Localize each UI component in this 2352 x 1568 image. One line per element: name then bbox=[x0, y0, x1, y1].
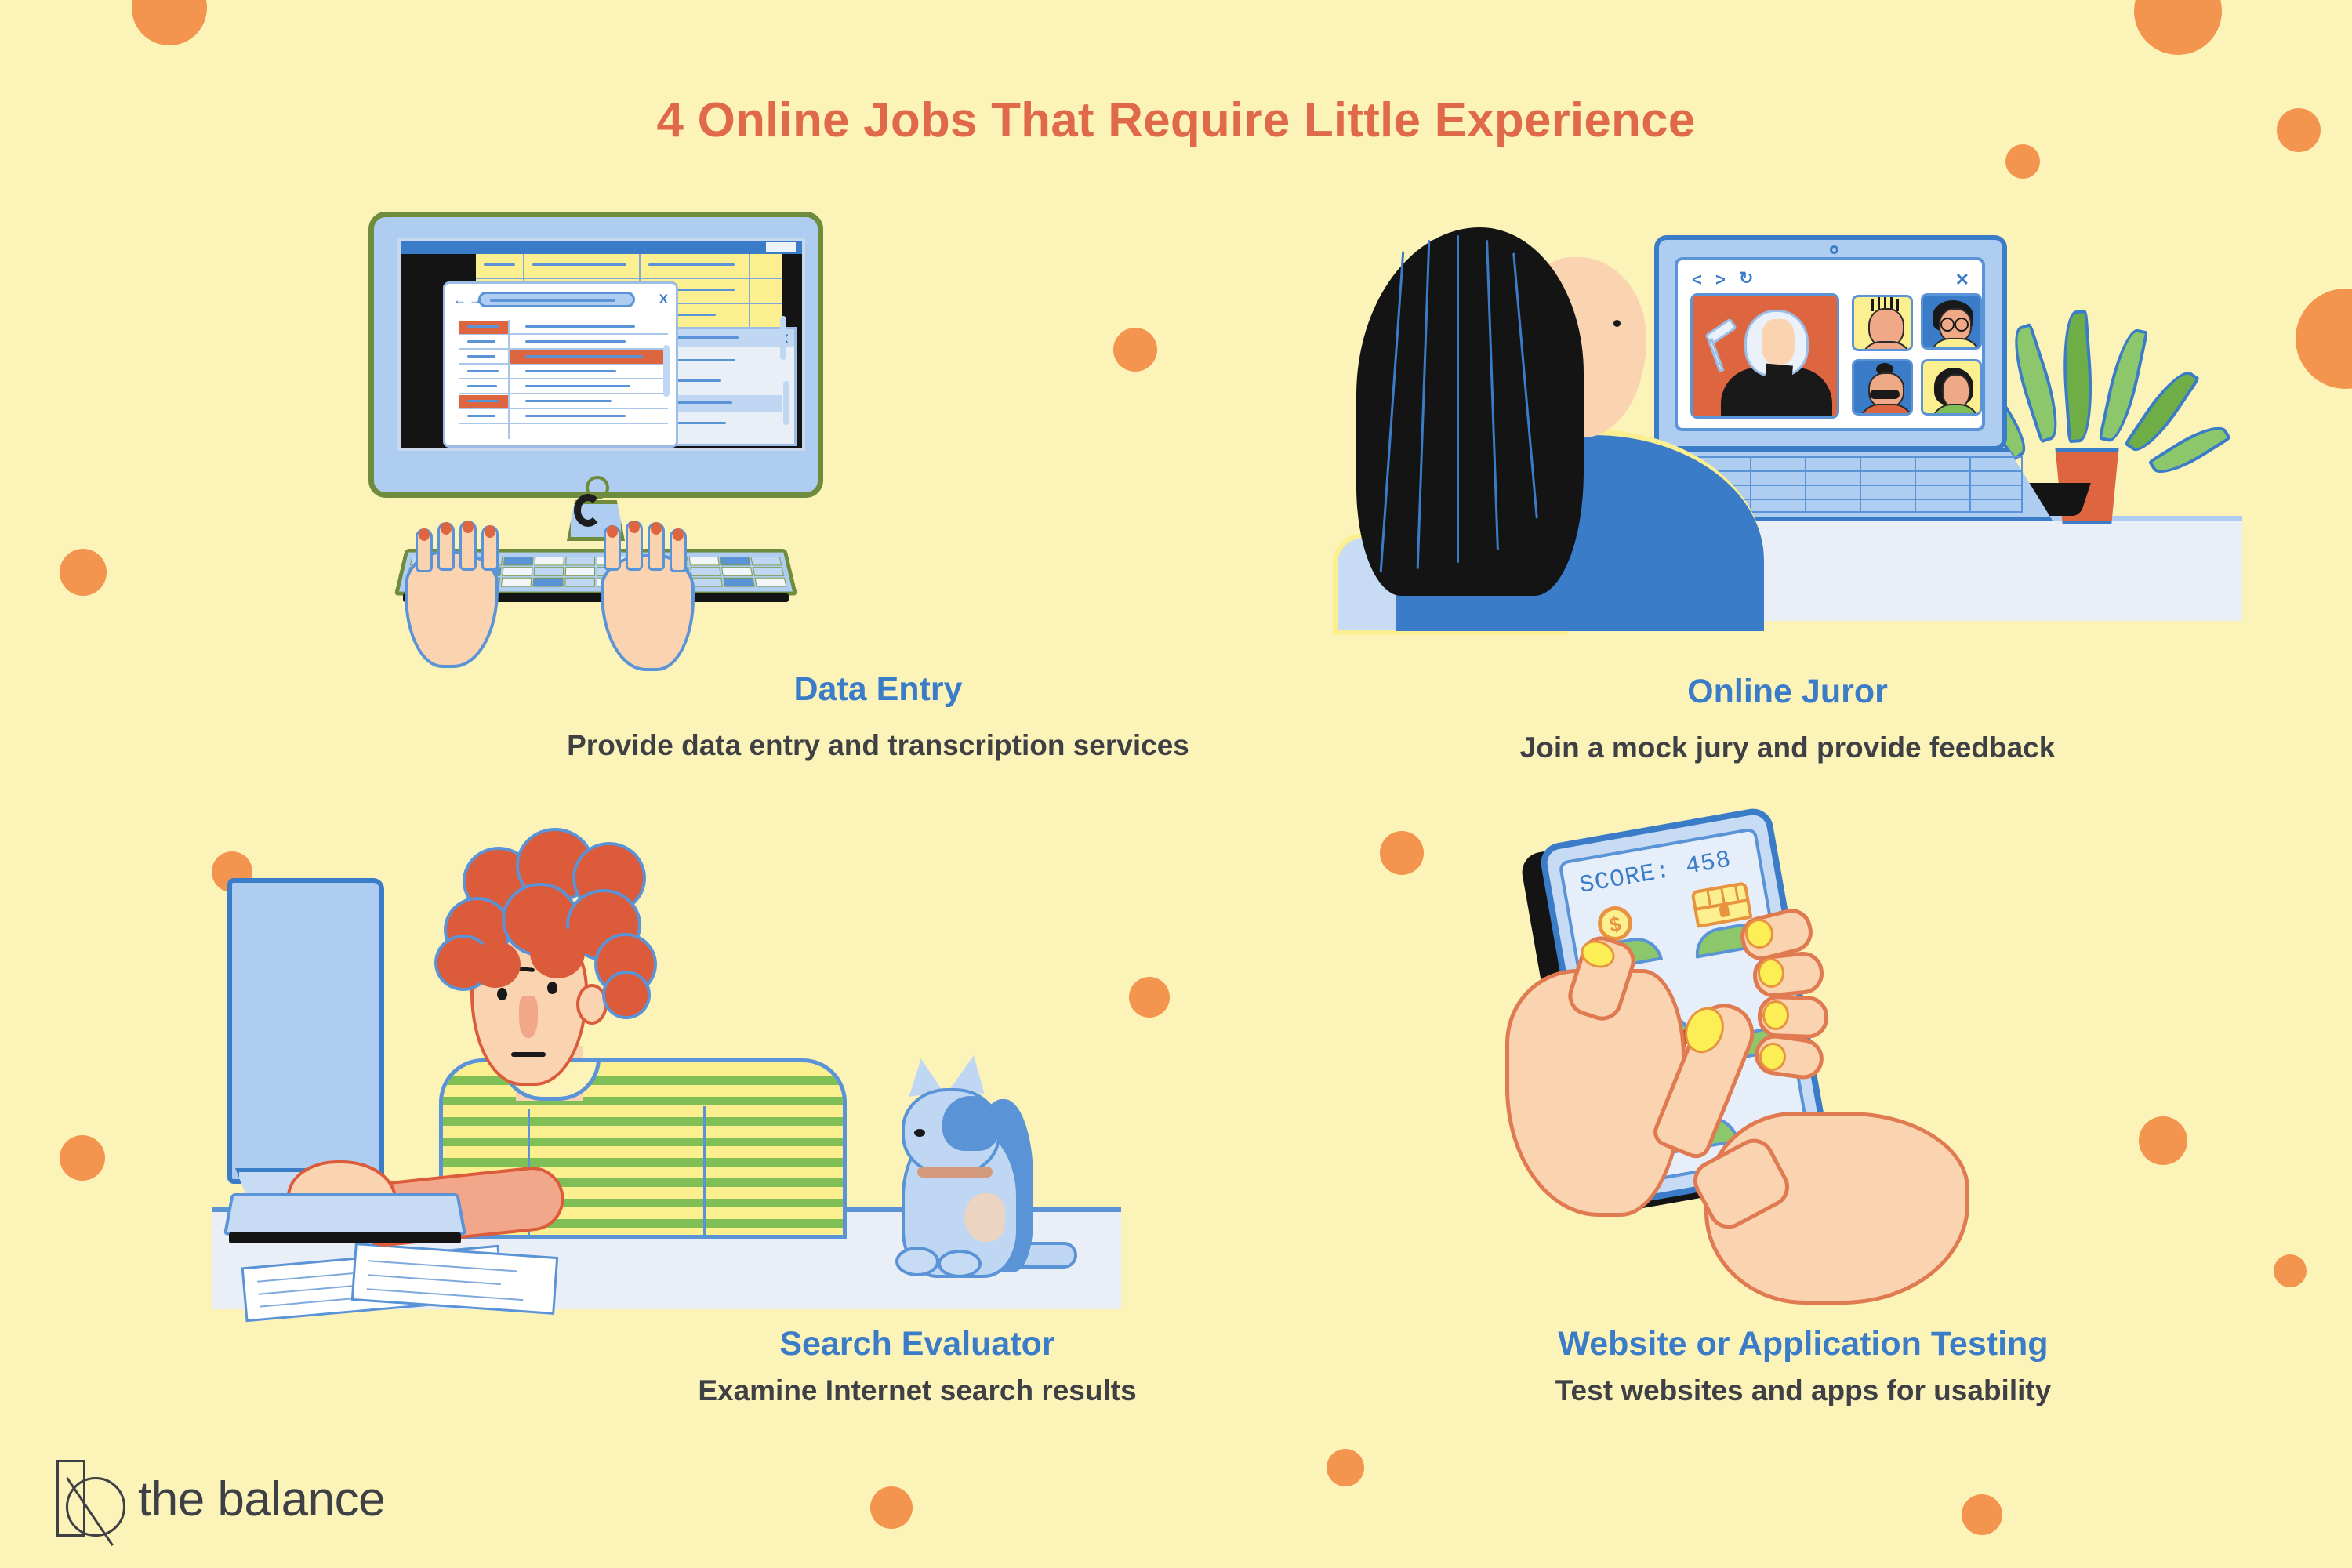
caption-data-entry: Data Entry Provide data entry and transc… bbox=[659, 670, 1098, 708]
fingernail bbox=[419, 528, 430, 541]
decorative-dot bbox=[2134, 0, 2222, 55]
decorative-dot bbox=[870, 1486, 913, 1529]
close-icon: ✕ bbox=[1955, 271, 1969, 289]
mouth bbox=[511, 1052, 546, 1057]
job-label: Online Juror bbox=[1568, 673, 2007, 710]
decorative-dot bbox=[1380, 831, 1424, 875]
refresh-icon: ↻ bbox=[1739, 270, 1753, 287]
caption-website-testing: Website or Application Testing Test webs… bbox=[1348, 1325, 2258, 1409]
desktop-monitor-icon: X ← → X bbox=[368, 212, 823, 498]
nose bbox=[519, 996, 538, 1038]
caption-search-evaluator: Search Evaluator Examine Internet search… bbox=[455, 1325, 1380, 1409]
brand-name: the balance bbox=[138, 1472, 385, 1527]
job-description: Examine Internet search results bbox=[455, 1374, 1380, 1408]
juror-video-tile bbox=[1852, 295, 1913, 351]
desktop-monitor-icon bbox=[227, 878, 384, 1184]
page-title: 4 Online Jobs That Require Little Experi… bbox=[0, 93, 2352, 148]
judge-video-tile bbox=[1690, 293, 1839, 419]
job-description: Join a mock jury and provide feedback bbox=[1231, 731, 2344, 765]
data-table bbox=[459, 320, 668, 439]
caption-online-juror: Online Juror Join a mock jury and provid… bbox=[1568, 673, 2007, 710]
job-label: Search Evaluator bbox=[455, 1325, 1380, 1363]
decorative-dot bbox=[2274, 1254, 2307, 1287]
fingernail bbox=[651, 522, 662, 535]
fingernail bbox=[441, 522, 452, 535]
cat-paw bbox=[938, 1250, 982, 1278]
decorative-dot bbox=[1113, 328, 1157, 372]
decorative-dot bbox=[60, 1135, 105, 1181]
cat-paw bbox=[895, 1247, 939, 1276]
treasure-chest-icon bbox=[1690, 881, 1752, 928]
address-bar bbox=[478, 292, 635, 307]
monitor-stand-hole bbox=[574, 494, 602, 527]
screen-titlebar bbox=[401, 241, 802, 254]
background-window: X bbox=[659, 327, 797, 446]
monitor-screen: X ← → X bbox=[397, 238, 805, 451]
keyboard-icon bbox=[223, 1193, 466, 1235]
cat-collar bbox=[917, 1167, 993, 1178]
balance-logo-icon bbox=[56, 1460, 118, 1538]
infographic-canvas: 4 Online Jobs That Require Little Experi… bbox=[0, 0, 2352, 1568]
illustration-search-evaluator bbox=[212, 823, 1152, 1333]
fingernail bbox=[629, 521, 640, 533]
brand-logo: the balance bbox=[56, 1460, 385, 1538]
decorative-dot bbox=[2005, 144, 2040, 179]
juror-video-tile bbox=[1921, 359, 1982, 416]
beauty-mark bbox=[1613, 320, 1621, 327]
decorative-dot bbox=[1962, 1494, 2002, 1535]
job-description: Test websites and apps for usability bbox=[1348, 1374, 2258, 1408]
fingernail bbox=[463, 521, 474, 533]
eye bbox=[497, 988, 507, 1000]
laptop-screen: < > ↻ ✕ bbox=[1675, 257, 1985, 431]
fingernail bbox=[673, 528, 684, 541]
decorative-dot bbox=[2296, 289, 2352, 389]
decorative-dot bbox=[2139, 1116, 2187, 1165]
juror-video-tile bbox=[1852, 359, 1913, 416]
decorative-dot bbox=[60, 549, 107, 596]
laptop-icon: < > ↻ ✕ bbox=[1654, 235, 2007, 451]
illustration-data-entry: X ← → X bbox=[368, 212, 855, 682]
illustration-website-testing: SCORE: 458 $ $ bbox=[1505, 815, 2007, 1317]
fingernail bbox=[607, 525, 618, 538]
webcam-icon bbox=[1830, 245, 1838, 254]
eye bbox=[547, 982, 557, 994]
keyboard-shadow bbox=[229, 1232, 461, 1243]
illustration-online-juror: < > ↻ ✕ bbox=[1364, 235, 2274, 674]
data-entry-window: ← → X bbox=[443, 281, 678, 448]
decorative-dot bbox=[1327, 1449, 1364, 1486]
job-label: Website or Application Testing bbox=[1348, 1325, 2258, 1363]
job-label: Data Entry bbox=[659, 670, 1098, 708]
decorative-dot bbox=[132, 0, 207, 45]
judge-face bbox=[1762, 319, 1795, 365]
fingernail bbox=[485, 525, 495, 538]
juror-video-tile bbox=[1921, 293, 1982, 350]
